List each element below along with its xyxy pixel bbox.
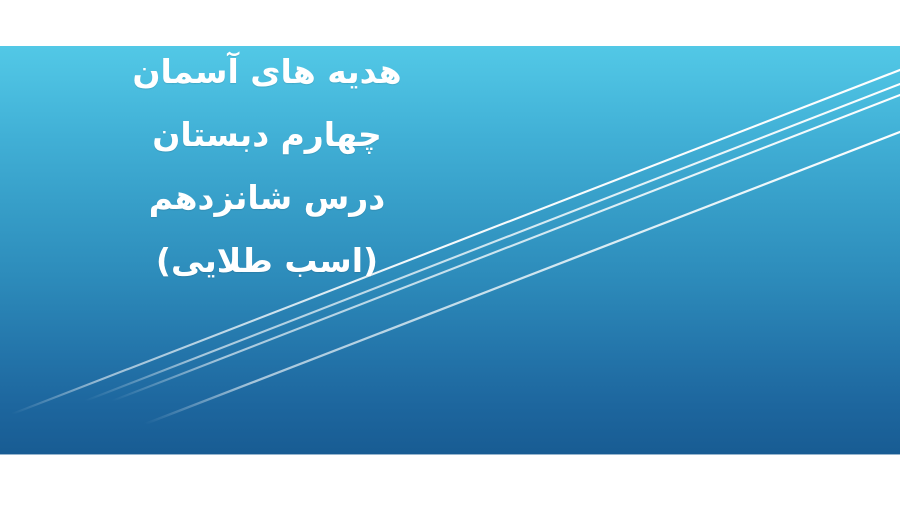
slide-title-block: هدیه های آسمان چهارم دبستان درس شانزدهم … [22, 40, 512, 292]
title-line-course: هدیه های آسمان [22, 40, 512, 103]
title-line-lesson-subtitle: (اسب طلایی) [22, 229, 512, 292]
title-line-grade: چهارم دبستان [22, 103, 512, 166]
slide-canvas: هدیه های آسمان چهارم دبستان درس شانزدهم … [0, 0, 900, 506]
title-line-lesson: درس شانزدهم [22, 166, 512, 229]
band-hairline [0, 454, 900, 455]
